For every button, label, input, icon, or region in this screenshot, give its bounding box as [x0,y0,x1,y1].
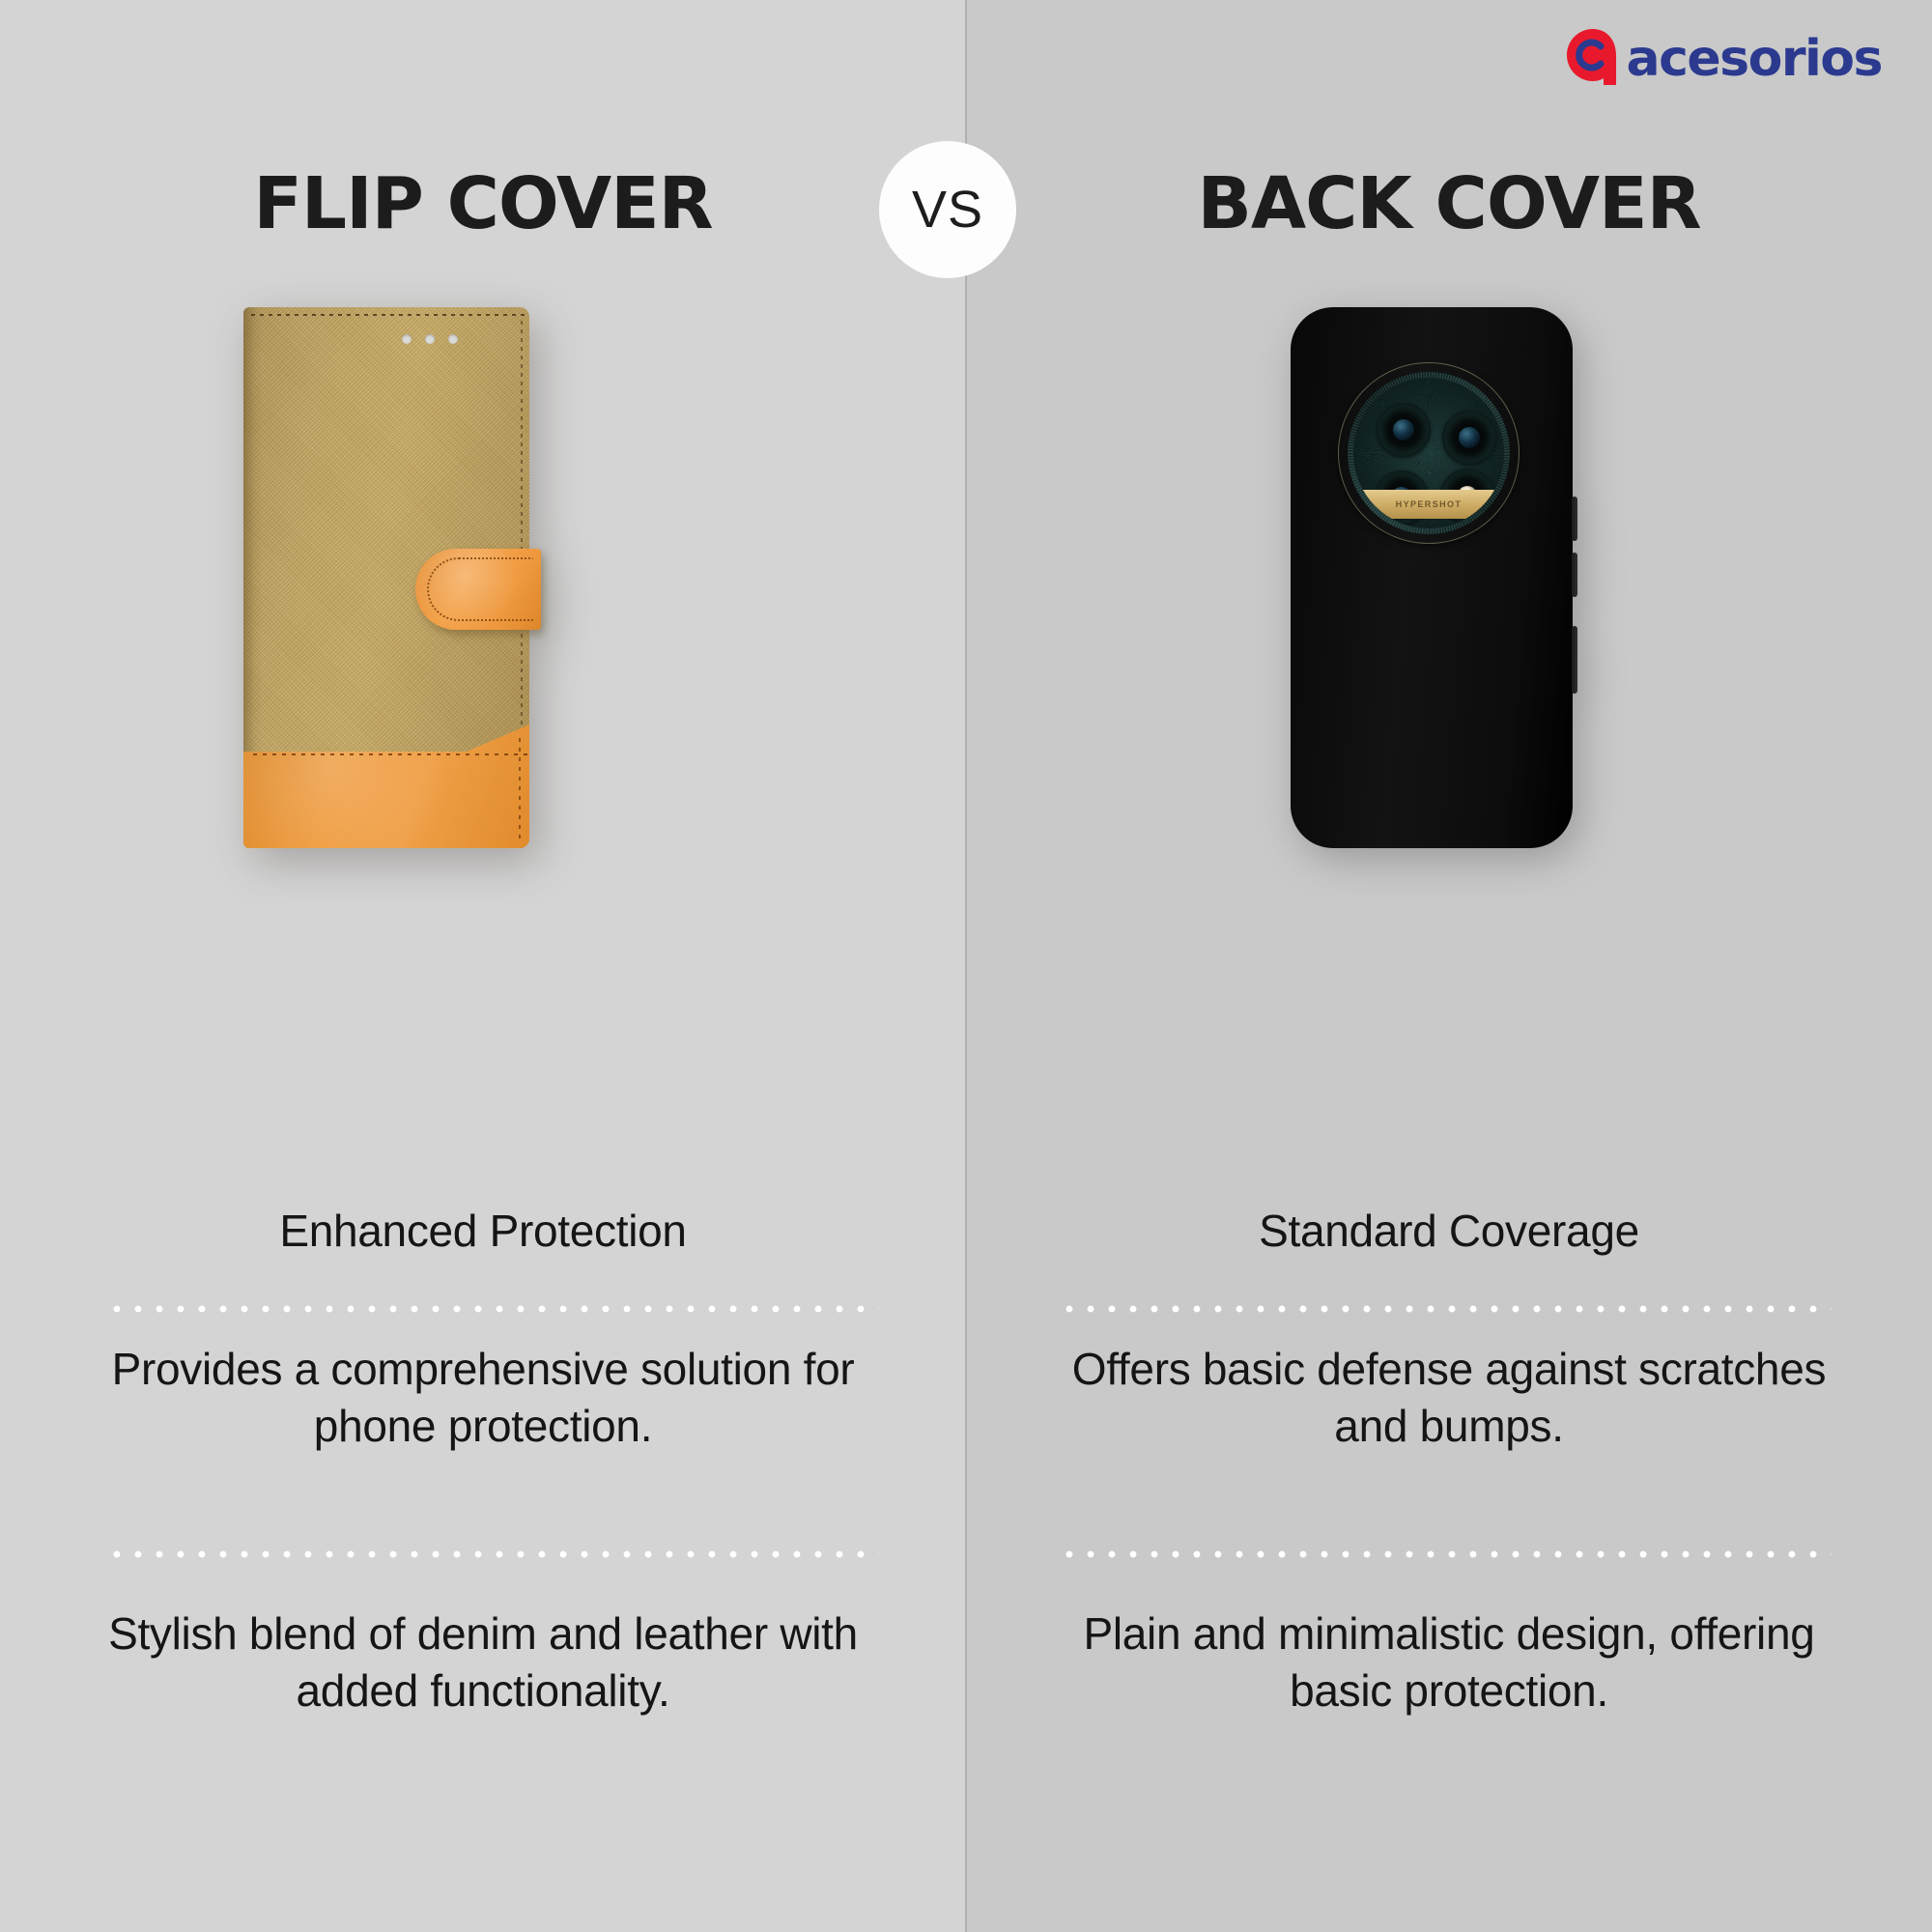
right-divider-2 [1059,1549,1832,1559]
left-title: FLIP COVER [0,162,966,245]
flip-cover-product-image [243,307,529,848]
volume-down-button [1572,553,1577,597]
back-cover-phone-image: HYPERSHOT [1291,307,1573,848]
left-feature-body-2: Stylish blend of denim and leather with … [0,1605,966,1719]
vs-label: VS [912,180,983,240]
right-title: BACK COVER [966,162,1932,245]
camera-lens-ultrawide [1442,411,1496,465]
camera-lens-main [1377,403,1431,457]
right-feature-body-2: Plain and minimalistic design, offering … [966,1605,1932,1719]
flip-cover-top-stitching [251,314,526,316]
left-divider-2 [106,1549,879,1559]
flip-cover-leather-panel [243,724,529,848]
flip-cover-cutout-holes [402,334,458,344]
brand-logo: acesorios [1562,21,1882,91]
camera-label-text: HYPERSHOT [1396,499,1463,509]
right-divider-1 [1059,1304,1832,1314]
power-button [1572,626,1577,694]
flip-cover-magnetic-tab [415,549,541,630]
brand-name: acesorios [1626,34,1882,84]
vs-badge: VS [879,141,1016,278]
camera-label-band: HYPERSHOT [1353,490,1504,519]
left-divider-1 [106,1304,879,1314]
acesorios-logo-icon [1562,25,1624,87]
camera-inner-plate: HYPERSHOT [1353,378,1504,528]
phone-back-shell: HYPERSHOT [1291,307,1573,848]
comparison-infographic: acesorios FLIP COVER BACK COVER VS [0,0,1932,1932]
left-feature-body-1: Provides a comprehensive solution for ph… [0,1341,966,1455]
right-feature-body-1: Offers basic defense against scratches a… [966,1341,1932,1455]
volume-up-button [1572,497,1577,541]
right-feature-heading: Standard Coverage [966,1204,1932,1260]
left-feature-heading: Enhanced Protection [0,1204,966,1260]
camera-module: HYPERSHOT [1339,363,1519,543]
